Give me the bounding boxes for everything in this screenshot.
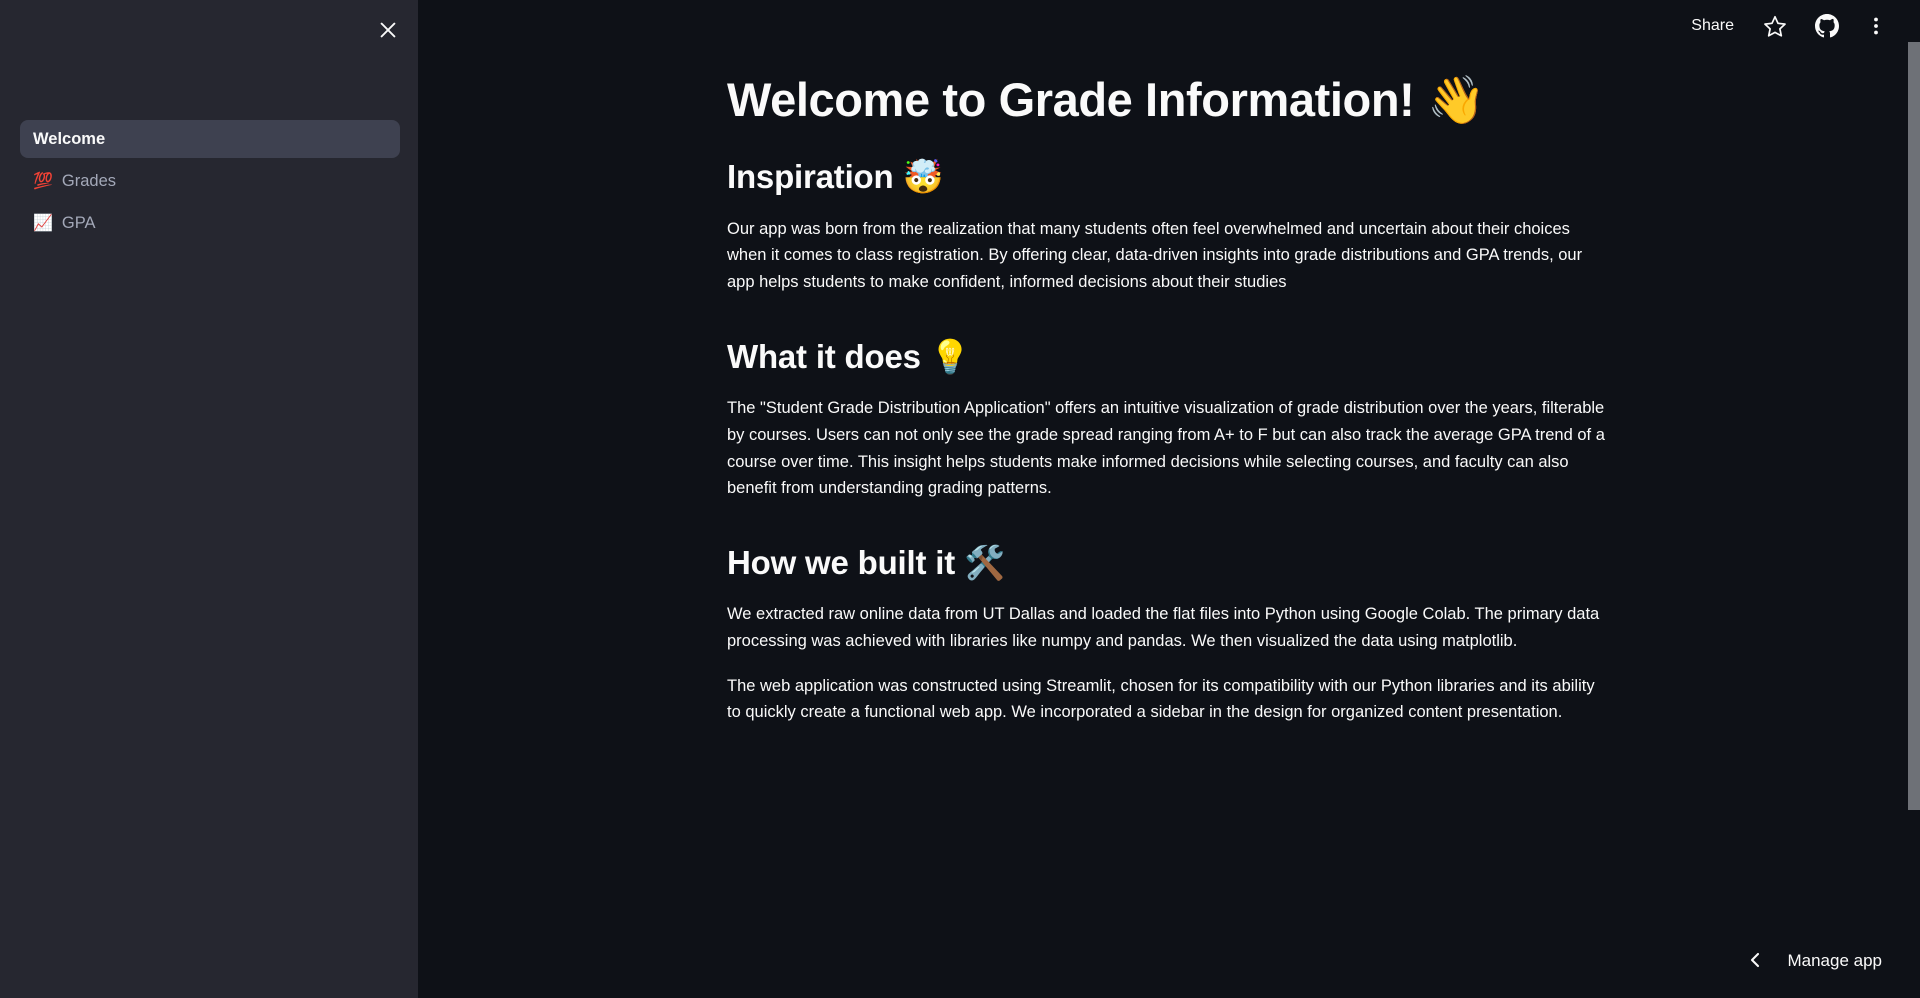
star-icon[interactable]: [1762, 13, 1788, 39]
page-title-text: Welcome to Grade Information!: [727, 73, 1414, 126]
streamlit-app: Welcome 💯 Grades 📈 GPA Share: [0, 0, 1920, 998]
share-button[interactable]: Share: [1689, 16, 1736, 36]
section-heading: How we built it 🛠️: [727, 518, 1627, 589]
sidebar-item-gpa[interactable]: 📈 GPA: [20, 204, 400, 242]
page-scrollbar[interactable]: [1906, 0, 1920, 998]
paragraph: The "Student Grade Distribution Applicat…: [727, 395, 1607, 502]
sidebar-item-grades[interactable]: 💯 Grades: [20, 162, 400, 200]
section-what-it-does: What it does 💡 The "Student Grade Distri…: [727, 312, 1627, 502]
chart-increasing-icon: 📈: [33, 215, 53, 231]
sidebar: Welcome 💯 Grades 📈 GPA: [0, 0, 418, 998]
content-column: Welcome to Grade Information! 👋 Inspirat…: [727, 0, 1627, 742]
sidebar-nav: Welcome 💯 Grades 📈 GPA: [20, 120, 400, 242]
manage-app-label: Manage app: [1787, 952, 1882, 969]
page-scrollbar-thumb[interactable]: [1908, 42, 1920, 810]
exploding-head-icon: 🤯: [902, 157, 943, 196]
sidebar-close-button[interactable]: [370, 12, 406, 48]
paragraph: The web application was constructed usin…: [727, 673, 1607, 726]
section-heading-text: How we built it: [727, 544, 955, 581]
paragraph: Our app was born from the realization th…: [727, 216, 1607, 296]
section-heading: Inspiration 🤯: [727, 132, 1627, 203]
paragraph: We extracted raw online data from UT Dal…: [727, 601, 1607, 654]
section-heading-text: What it does: [727, 338, 921, 375]
chevron-left-icon: [1747, 950, 1763, 970]
waving-hand-icon: 👋: [1427, 73, 1485, 128]
hundred-points-icon: 💯: [33, 173, 53, 189]
section-heading: What it does 💡: [727, 312, 1627, 383]
more-vertical-icon[interactable]: [1866, 13, 1886, 39]
github-icon[interactable]: [1814, 13, 1840, 39]
manage-app-button[interactable]: Manage app: [1737, 944, 1884, 976]
sidebar-item-label: Welcome: [33, 131, 105, 148]
section-how-we-built-it: How we built it 🛠️ We extracted raw onli…: [727, 518, 1627, 726]
main-content: Share Welcome: [418, 0, 1920, 998]
light-bulb-icon: 💡: [930, 337, 971, 376]
sidebar-item-label: GPA: [62, 215, 96, 232]
sidebar-item-label: Grades: [62, 173, 116, 190]
section-inspiration: Inspiration 🤯 Our app was born from the …: [727, 132, 1627, 295]
sidebar-item-welcome[interactable]: Welcome: [20, 120, 400, 158]
close-icon: [377, 19, 399, 41]
section-heading-text: Inspiration: [727, 158, 893, 195]
page-title: Welcome to Grade Information! 👋: [727, 72, 1627, 132]
app-toolbar: Share: [1689, 0, 1886, 52]
hammer-and-wrench-icon: 🛠️: [964, 543, 1005, 582]
